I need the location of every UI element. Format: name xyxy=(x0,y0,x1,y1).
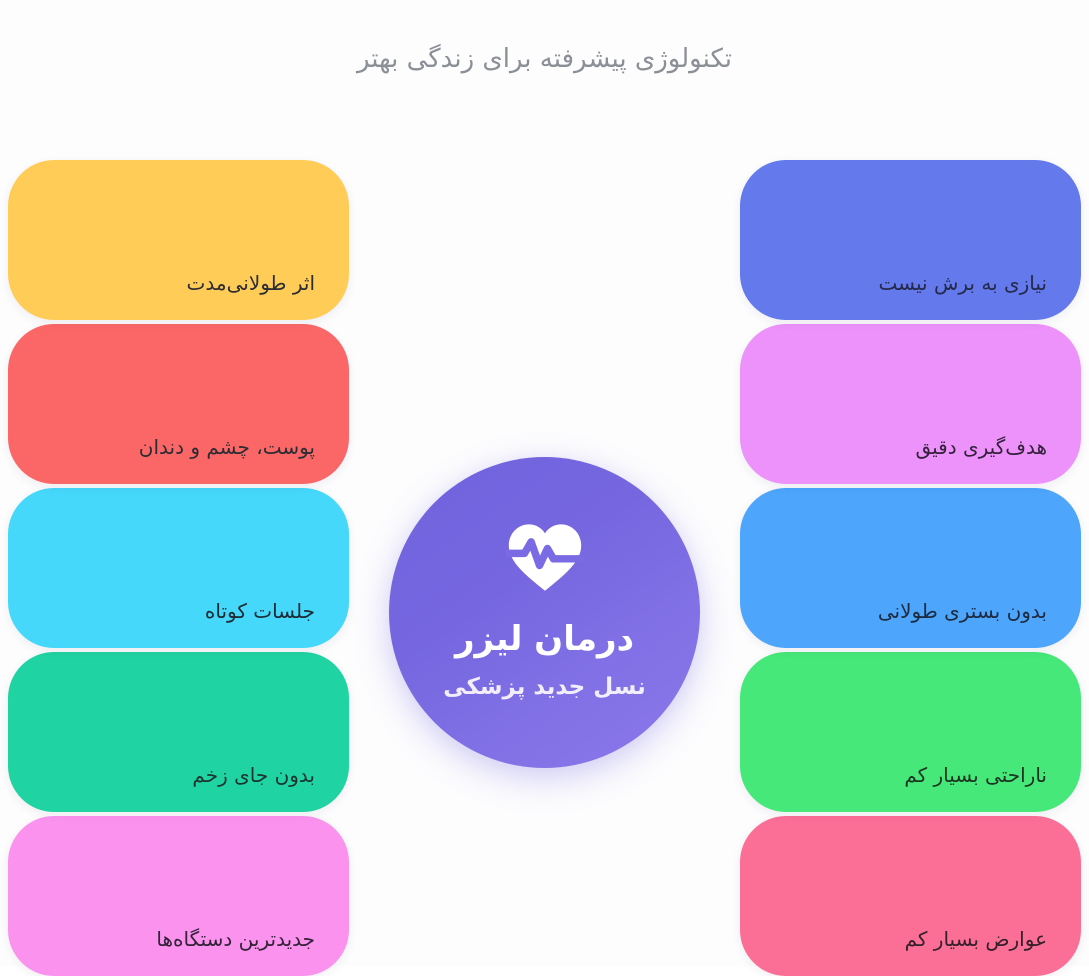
card-label: پوست، چشم و دندان xyxy=(139,432,315,462)
card-label: بدون بستری طولانی xyxy=(878,596,1047,626)
page-title: تکنولوژی پیشرفته برای زندگی بهتر xyxy=(0,41,1089,77)
card-label: ناراحتی بسیار کم xyxy=(904,760,1047,790)
infographic-page: تکنولوژی پیشرفته برای زندگی بهتر اثر طول… xyxy=(0,0,1089,966)
center-subtitle: نسل جدید پزشکی xyxy=(443,673,646,703)
card-left-3[interactable]: جلسات کوتاه xyxy=(8,488,349,648)
card-label: بدون جای زخم xyxy=(192,760,315,790)
card-right-4[interactable]: ناراحتی بسیار کم xyxy=(740,652,1081,812)
center-badge[interactable]: درمان لیزر نسل جدید پزشکی xyxy=(383,451,706,774)
center-title: درمان لیزر xyxy=(455,618,634,661)
card-label: نیازی به برش نیست xyxy=(879,268,1047,298)
card-right-5[interactable]: عوارض بسیار کم xyxy=(740,816,1081,976)
center-circle[interactable]: درمان لیزر نسل جدید پزشکی xyxy=(389,457,700,768)
card-right-3[interactable]: بدون بستری طولانی xyxy=(740,488,1081,648)
card-right-2[interactable]: هدف‌گیری دقیق xyxy=(740,324,1081,484)
card-label: جلسات کوتاه xyxy=(205,596,315,626)
card-right-1[interactable]: نیازی به برش نیست xyxy=(740,160,1081,320)
card-left-5[interactable]: جدیدترین دستگاه‌ها xyxy=(8,816,349,976)
card-left-4[interactable]: بدون جای زخم xyxy=(8,652,349,812)
card-label: جدیدترین دستگاه‌ها xyxy=(156,924,315,954)
card-left-1[interactable]: اثر طولانی‌مدت xyxy=(8,160,349,320)
card-left-2[interactable]: پوست، چشم و دندان xyxy=(8,324,349,484)
card-label: عوارض بسیار کم xyxy=(905,924,1047,954)
heart-pulse-icon xyxy=(506,522,584,592)
card-label: اثر طولانی‌مدت xyxy=(187,268,315,298)
card-label: هدف‌گیری دقیق xyxy=(915,432,1047,462)
